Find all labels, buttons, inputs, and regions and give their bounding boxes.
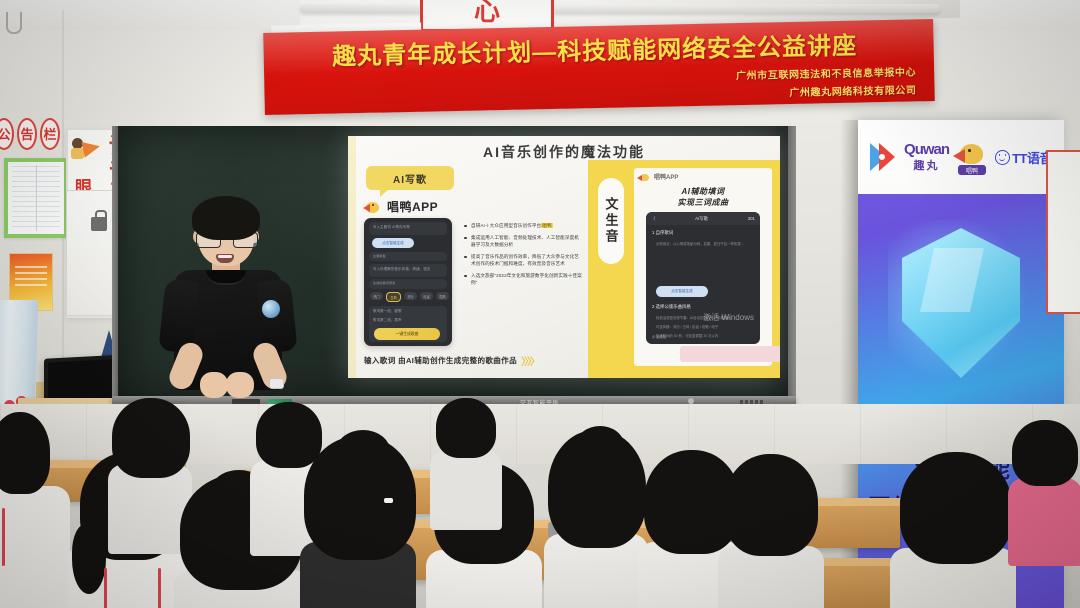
classroom-lecture-photo: 公 告 栏 读书三到 眼到 口到 交互智能平板	[0, 0, 1080, 608]
phone2-back-icon[interactable]: 〈	[651, 216, 655, 222]
slide-bullet-list: 自研AI＋大众应用型音乐创作平台唱鸭 集成运用人工智能、音频处理技术、人工智能深…	[464, 222, 582, 291]
student-1	[0, 412, 70, 608]
event-banner-org-2: 广州趣丸网络科技有限公司	[789, 81, 916, 99]
ceiling-rail	[300, 4, 940, 13]
slide-vertical-label-text: 文生音	[602, 197, 621, 245]
phone2-section-2-text-3: 生成时间约 60 秒，可反复调整 30 次以内	[656, 334, 752, 339]
student-11	[716, 454, 826, 608]
rollup-quwan-en: Quwan	[904, 142, 949, 157]
student-8	[430, 398, 502, 510]
bulletin-board-divider	[36, 165, 37, 231]
presenter-hand-left	[200, 372, 228, 398]
slide-title: AI音乐创作的魔法功能	[348, 142, 780, 162]
phone1-style-label: 生成的歌词预览	[369, 279, 447, 287]
slide-caption-arrows: 〉〉〉〉	[521, 353, 538, 368]
bulletin-char-1: 公	[0, 118, 14, 150]
event-banner-org-1: 广州市互联网违法和不良信息举报中心	[736, 63, 916, 82]
phone2-generate-button[interactable]: 点击智能生成	[656, 286, 708, 297]
student-12	[886, 452, 1018, 608]
slide-bullet-1: 集成运用人工智能、音频处理技术、人工智能深度机器学习及大数据分析	[464, 234, 582, 248]
rollup-quwan-mark-icon	[870, 143, 896, 171]
slide-app-logo: 唱鸭APP	[366, 198, 438, 215]
slide-bullet-2: 提高了音乐作品的创作效率，降低了大众参与文化艺术创作的技术门槛和难度，有效普及音…	[464, 253, 582, 267]
chip-0[interactable]: 热门	[370, 292, 383, 300]
presenter-mouth	[216, 254, 234, 263]
wall-sign-char: 心	[423, 0, 551, 28]
phone2-titlebar: 〈 AI写歌 301	[646, 212, 760, 225]
rollup-duck-tag: 唱鸭	[958, 165, 986, 175]
slide-speech-bubble: AI写歌	[366, 166, 454, 190]
megaphone-icon	[71, 136, 105, 160]
bulletin-char-3: 栏	[40, 118, 60, 150]
student-13	[1008, 420, 1080, 540]
slide-phone-mockup-left: 写入主题词 AI帮你写歌 点击智能生成 主题模板 写入你理解的音乐风格、情绪、语…	[364, 218, 452, 346]
rollup-tt-logo: TT语音	[995, 148, 1052, 167]
headline-line-1: AI辅助填词	[634, 186, 772, 197]
wall-hook	[6, 12, 22, 34]
watermark-line-1: 激活 Windows	[703, 314, 754, 322]
student-6	[292, 436, 420, 608]
bullet-0-text: 自研AI＋大众应用型音乐创作平台	[471, 223, 541, 228]
slide-phone-mockup-right: 〈 AI写歌 301 1 自序歌词 示例用法：以心情或场景为例，如春、夏日午后一…	[646, 212, 760, 344]
phone1-row5: 歌词第一段、副歌	[369, 306, 447, 315]
chip-1[interactable]: 古风	[386, 292, 401, 302]
right-wall-poster	[1046, 150, 1080, 314]
presenter-hand-right	[226, 372, 254, 398]
slide-caption-text: 输入歌词 由AI辅助创作生成完整的歌曲作品	[364, 355, 517, 366]
rollup-duck-icon: 唱鸭	[957, 141, 987, 173]
bulletin-char-2: 告	[17, 118, 37, 150]
phone1-cta-button[interactable]: 一键生成歌曲	[374, 328, 440, 340]
chip-3[interactable]: 民谣	[420, 292, 433, 300]
slide-right-headline: AI辅助填词 实现三词成曲	[634, 186, 772, 208]
slide-bullet-0: 自研AI＋大众应用型音乐创作平台唱鸭	[464, 222, 582, 229]
phone1-row6: 歌词第二段、尾声	[369, 315, 447, 324]
slide-right-card: 唱鸭APP AI辅助填词 实现三词成曲 〈 AI写歌 301 1 自序歌词 示	[634, 168, 772, 366]
event-banner: 趣丸青年成长计划—科技赋能网络安全公益讲座 广州市互联网违法和不良信息举报中心 …	[263, 19, 935, 115]
phone1-pill-label: 点击智能生成	[382, 241, 404, 246]
slide-bubble-label: AI写歌	[393, 171, 427, 186]
headline-line-2: 实现三词成曲	[634, 197, 772, 208]
phone1-row1: 写入主题词 AI帮你写歌	[369, 222, 447, 231]
duck-icon	[366, 200, 383, 214]
cabinet-latch-icon[interactable]	[91, 217, 107, 231]
phone1-generate-button[interactable]: 点击智能生成	[372, 238, 414, 248]
phone2-footer: 示范模板	[652, 335, 666, 340]
slide-right-app-logo: 唱鸭APP	[640, 172, 678, 181]
slide-right-panel: 文生音 唱鸭APP AI辅助填词 实现三词成曲	[588, 160, 780, 378]
slide-right-pink-bar	[680, 346, 780, 362]
phone2-pill-label: 点击智能生成	[671, 289, 693, 294]
phone2-section-2: 2 选择公版乐曲风格	[652, 304, 691, 310]
phone1-row3: 主题模板	[369, 252, 447, 260]
presenter-wristwatch	[269, 378, 284, 389]
phone1-style-chips[interactable]: 热门 古风 流行 民谣 国风	[370, 292, 449, 302]
phone2-section-1-text: 示例用法：以心情或场景为例，如春、夏日午后一杯奶茶…	[656, 242, 752, 247]
phone2-credits: 301	[748, 216, 755, 221]
presenter-shirt-logo	[262, 300, 280, 318]
rollup-logo-bar: Quwan 趣丸 唱鸭 TT语音	[858, 120, 1064, 194]
slide-right-app-name: 唱鸭APP	[654, 172, 678, 181]
presenter	[160, 196, 296, 426]
projected-slide: AI音乐创作的魔法功能 AI写歌 唱鸭APP 写入主题词 AI帮你写歌 点击智能…	[348, 136, 780, 378]
slide-caption: 输入歌词 由AI辅助创作生成完整的歌曲作品 〉〉〉〉	[364, 353, 538, 368]
slide-bullet-3: 入选文旅部“2022年文化和旅游数字化创新实践十佳案例”	[464, 272, 582, 286]
rollup-quwan-cn: 趣丸	[904, 157, 949, 173]
presenter-fringe	[196, 218, 256, 236]
chip-2[interactable]: 流行	[404, 292, 417, 300]
slide-vertical-label: 文生音	[598, 178, 624, 264]
phone2-section-1: 1 自序歌词	[652, 230, 673, 236]
phone2-title: AI写歌	[695, 216, 708, 222]
tt-face-icon	[995, 150, 1010, 165]
windows-activation-watermark: 激活 Windows	[703, 314, 754, 322]
bulletin-board	[4, 158, 68, 238]
slide-app-name: 唱鸭APP	[387, 198, 438, 215]
phone2-section-2-text-2: 可选风格：流行 / 古风 / 民谣 / 说唱 / 电子	[656, 325, 752, 330]
bullet-0-highlight: 唱鸭	[541, 223, 552, 228]
duck-icon-small	[640, 172, 651, 181]
chip-4[interactable]: 国风	[436, 292, 449, 300]
phone1-row2: 写入你理解的音乐风格、情绪、语言	[369, 264, 447, 273]
bulletin-board-heading: 公 告 栏	[0, 118, 60, 148]
